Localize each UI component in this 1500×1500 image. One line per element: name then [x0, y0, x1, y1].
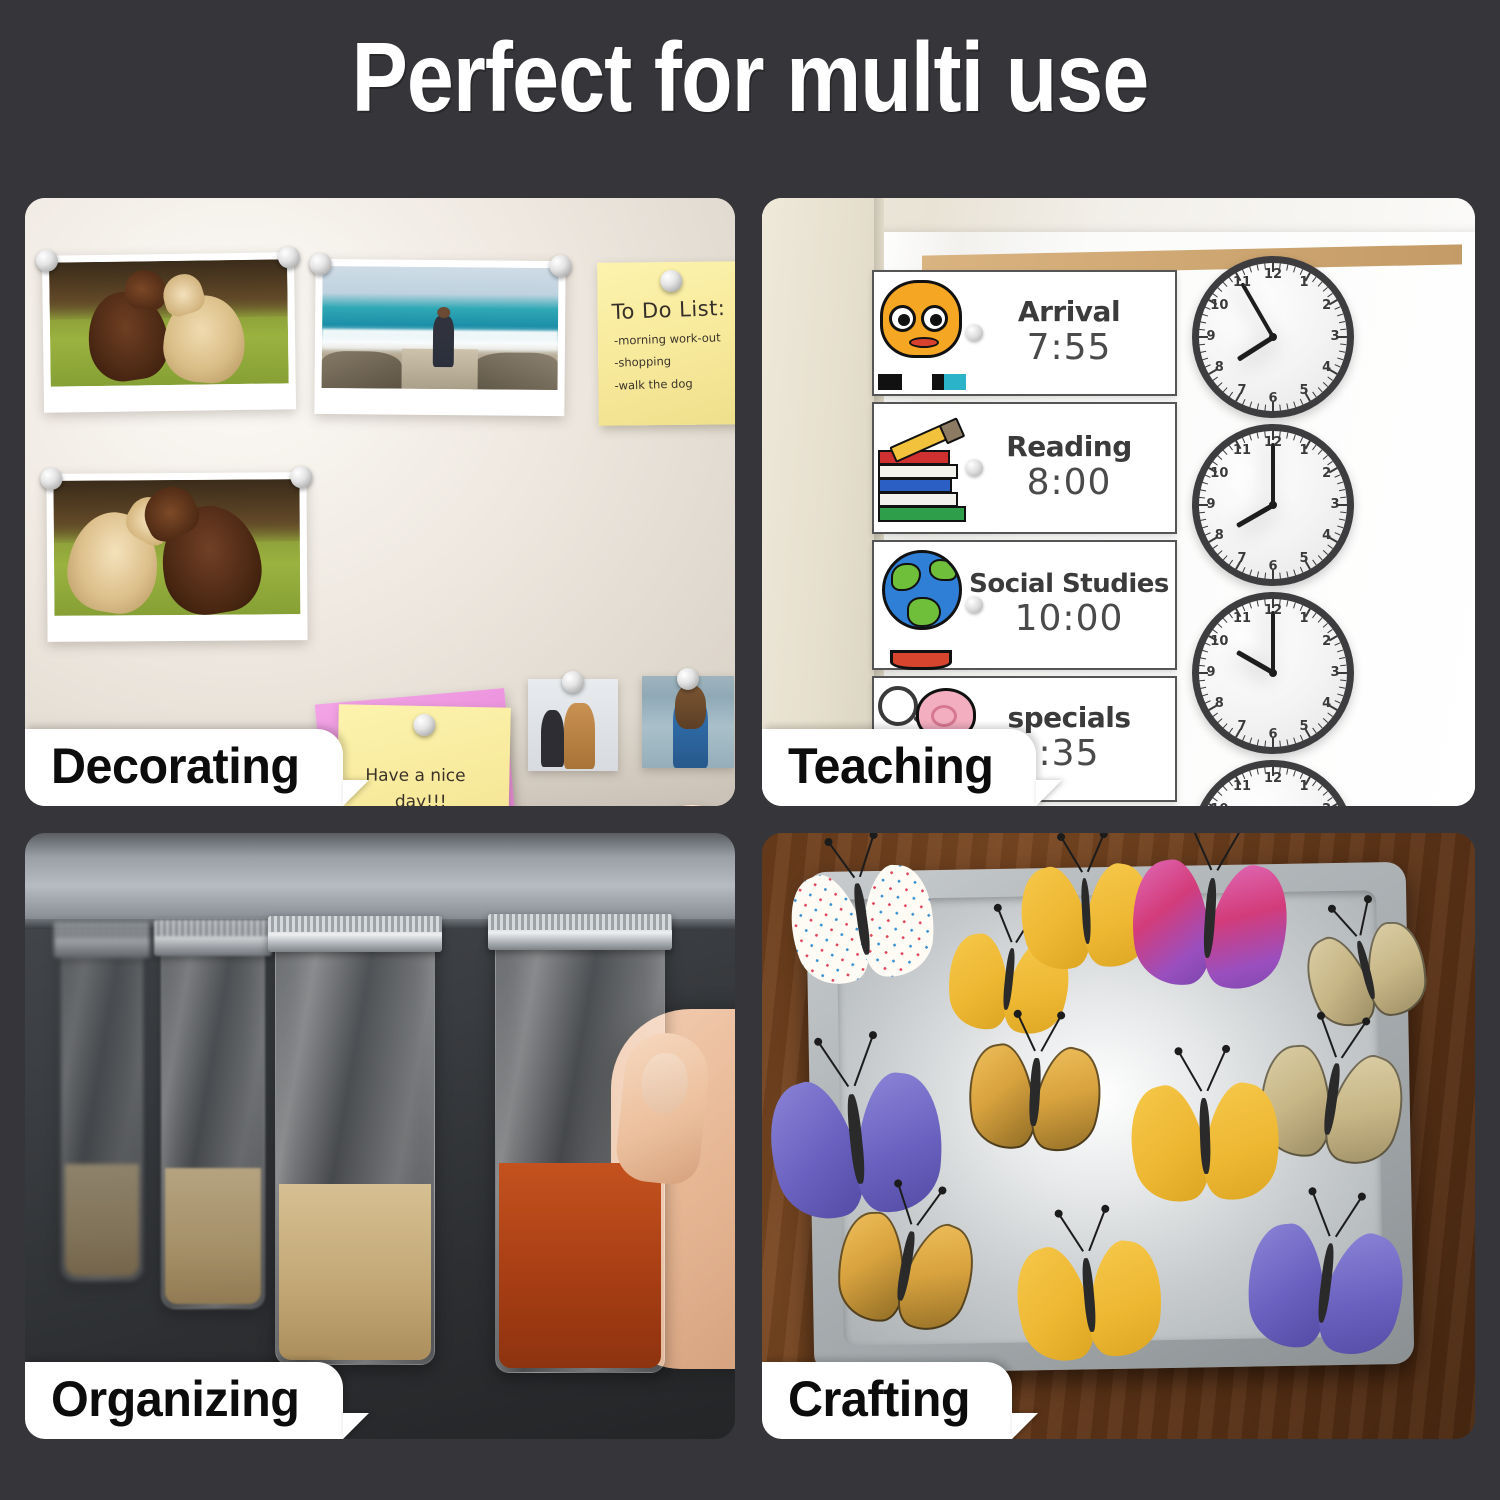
beach-photo: [314, 259, 565, 416]
clock-tick: [1223, 450, 1228, 455]
clock-tick: [1323, 718, 1328, 723]
snow-couple-photo: [528, 679, 618, 771]
clock-number: 1: [1295, 275, 1313, 290]
label-chip-organizing: Organizing: [25, 1362, 343, 1439]
clock-tick: [1339, 657, 1345, 659]
panel-label: Organizing: [51, 1371, 299, 1427]
globe-shape: [882, 550, 962, 630]
clock-tick: [1300, 437, 1304, 443]
clock-tick: [1340, 680, 1346, 682]
clock-tick: [1327, 797, 1333, 801]
schedule-card-text: Arrival 7:55: [969, 294, 1175, 372]
round-magnet-icon[interactable]: [550, 255, 572, 277]
book-stack: [878, 436, 966, 522]
schedule-card-text: Social Studies 10:00: [969, 567, 1175, 643]
clock-tick: [1327, 544, 1333, 548]
clock-tick: [1293, 770, 1296, 776]
clock-tick: [1337, 314, 1343, 317]
clock-tick: [1327, 629, 1333, 633]
minute-hand: [1271, 443, 1275, 505]
panel-label: Teaching: [788, 738, 993, 794]
clock-tick: [1217, 382, 1222, 387]
round-magnet-icon[interactable]: [660, 270, 682, 292]
clock-tick: [1199, 336, 1208, 338]
globe-base: [890, 650, 952, 670]
clock-tick: [1199, 672, 1208, 674]
clock-tick: [1200, 321, 1206, 323]
wing-left: [1242, 1221, 1329, 1351]
label-chip-teaching: Teaching: [762, 729, 1036, 806]
spice-jar-breadcrumbs: [275, 945, 435, 1365]
magnetic-lid: [154, 920, 272, 956]
panel-organizing[interactable]: Organizing: [25, 833, 735, 1439]
stacked-books-icon: [874, 404, 969, 532]
clock-number: 7: [1233, 719, 1251, 734]
todo-item: -walk the dog: [614, 371, 721, 397]
clock-tick: [1318, 387, 1323, 392]
wing-right: [860, 863, 938, 980]
two-dogs-playing-photo: [46, 472, 307, 642]
clock-tick: [1272, 263, 1274, 272]
clock-tick: [1202, 525, 1208, 528]
clock-tick: [1264, 767, 1266, 773]
clock-tick: [1264, 741, 1266, 747]
round-magnet-icon[interactable]: [966, 597, 983, 614]
clock-tick: [1318, 450, 1323, 455]
clock-tick: [1337, 525, 1343, 528]
clock-tick: [1242, 567, 1246, 573]
wing-left: [1123, 856, 1216, 991]
minute-hand: [1240, 282, 1274, 337]
nice-day-line2: day!!!: [395, 792, 447, 806]
person-figure: [433, 316, 455, 367]
clock-tick: [1242, 735, 1246, 741]
clock-number: 1: [1295, 611, 1313, 626]
minute-hand: [1271, 611, 1275, 673]
rock-left: [322, 351, 403, 388]
nice-day-line1: Have a nice: [365, 766, 465, 786]
clock-tick: [1339, 519, 1345, 521]
clock-tick: [1212, 544, 1218, 548]
wall-clock-arrival: 121234567891011: [1192, 256, 1354, 418]
clock-tick: [1318, 282, 1323, 287]
clock-tick: [1286, 600, 1288, 606]
todo-heading: To Do List:: [611, 296, 726, 324]
round-magnet-icon[interactable]: [290, 466, 312, 488]
butterfly-blue-left[interactable]: [765, 1061, 947, 1218]
clock-tick: [1223, 387, 1228, 392]
clock-tick: [1202, 650, 1208, 653]
clock-tick: [1300, 735, 1304, 741]
clock-tick: [1272, 570, 1274, 579]
clock-tick: [1340, 512, 1346, 514]
clock-tick: [1199, 512, 1205, 514]
clock-tick: [1257, 264, 1259, 270]
clock-tick: [1257, 768, 1259, 774]
hour-hand: [1236, 335, 1274, 362]
clock-tick: [1337, 357, 1343, 360]
clock-tick: [1318, 723, 1323, 728]
subject-name: Arrival: [969, 298, 1169, 326]
todo-sticky-note: To Do List: -morning work-out -shopping …: [597, 261, 735, 426]
subject-time: 10:00: [969, 601, 1169, 637]
eye-left: [889, 305, 916, 332]
wall-clock-social-studies: 121234567891011: [1192, 592, 1354, 754]
clock-tick: [1339, 687, 1345, 689]
subject-name: specials: [969, 704, 1169, 732]
door-frame: [762, 198, 884, 806]
clock-tick: [1223, 555, 1228, 560]
clock-tick: [1200, 657, 1206, 659]
clock-tick: [1200, 489, 1206, 491]
clock-tick: [1264, 405, 1266, 411]
clock-tick: [1293, 569, 1296, 575]
schedule-card-arrival[interactable]: Arrival 7:55: [872, 270, 1177, 396]
label-chip-crafting: Crafting: [762, 1362, 1012, 1439]
clock-tick: [1242, 773, 1246, 779]
clock-tick: [1249, 737, 1252, 743]
clock-tick: [1223, 786, 1228, 791]
wing-right: [1084, 1237, 1169, 1361]
clock-tick: [1318, 786, 1323, 791]
clock-tick: [1212, 293, 1218, 297]
jar-contents: [499, 1163, 661, 1368]
clock-tick: [1223, 618, 1228, 623]
clock-tick: [1338, 504, 1347, 506]
clock-tick: [1323, 791, 1328, 796]
clock-tick: [1286, 403, 1288, 409]
clock-tick: [1338, 672, 1347, 674]
clock-tick: [1217, 623, 1222, 628]
clock-tick: [1199, 680, 1205, 682]
subject-time: 8:00: [969, 465, 1169, 501]
clock-tick: [1249, 266, 1252, 272]
butterfly-blue-bottom-right[interactable]: [1243, 1212, 1409, 1354]
clock-tick: [1217, 455, 1222, 460]
clock-tick: [1212, 797, 1218, 801]
jar-contents: [279, 1184, 431, 1360]
schedule-card-reading[interactable]: Reading 8:00: [872, 402, 1177, 534]
clock-tick: [1199, 344, 1205, 346]
mouth: [909, 337, 939, 348]
photo-image: [322, 266, 559, 390]
clock-tick: [1249, 434, 1252, 440]
infographic-root: Perfect for multi use: [0, 0, 1500, 1500]
hour-hand: [1235, 650, 1274, 675]
butterfly-yellow-center[interactable]: [1130, 1074, 1280, 1197]
clock-tick: [1323, 382, 1328, 387]
dark-dog-shape: [154, 498, 269, 616]
clock-tick: [1318, 555, 1323, 560]
clock-tick: [1300, 269, 1304, 275]
clock-tick: [1300, 399, 1304, 405]
clock-tick: [1338, 336, 1347, 338]
clock-tick: [1257, 571, 1259, 577]
photo-image: [53, 479, 300, 616]
clock-number: 1: [1295, 443, 1313, 458]
round-magnet-icon[interactable]: [413, 714, 435, 736]
clock-tick: [1337, 482, 1343, 485]
clock-tick: [1264, 599, 1266, 605]
clock-tick: [1257, 432, 1259, 438]
clock-tick: [1318, 618, 1323, 623]
clock-tick: [1272, 738, 1274, 747]
person-figure: [541, 710, 564, 767]
clock-tick: [1286, 432, 1288, 438]
two-dogs-field-photo: [42, 252, 296, 413]
clock-tick: [1212, 629, 1218, 633]
panel-label: Decorating: [51, 738, 299, 794]
clock-tick: [1199, 497, 1205, 499]
book: [878, 492, 958, 507]
clock-tick: [1286, 739, 1288, 745]
magnetic-lid: [268, 916, 442, 952]
clock-tick: [1257, 739, 1259, 745]
clock-tick: [1293, 401, 1296, 407]
schedule-card-text: Reading 8:00: [969, 429, 1175, 507]
face-with-glasses-icon: [874, 272, 969, 394]
clock-tick: [1300, 605, 1304, 611]
round-magnet-icon[interactable]: [40, 468, 62, 490]
subject-name: Reading: [969, 433, 1169, 461]
globe-icon: [874, 542, 969, 668]
clock-tick: [1212, 376, 1218, 380]
round-magnet-icon[interactable]: [310, 253, 332, 275]
clock-tick: [1264, 263, 1266, 269]
book: [878, 478, 952, 493]
clock-tick: [1257, 600, 1259, 606]
clock-tick: [1323, 550, 1328, 555]
clock-number: 11: [1233, 779, 1251, 794]
beach-scene: [322, 266, 559, 390]
clock-number: 5: [1295, 719, 1313, 734]
rock-right: [473, 353, 558, 390]
clock-tick: [1272, 767, 1274, 776]
clock-number: 7: [1233, 383, 1251, 398]
eye-right: [921, 305, 948, 332]
clock-tick: [1199, 504, 1208, 506]
clock-tick: [1286, 768, 1288, 774]
clock-tick: [1242, 437, 1246, 443]
magnifier-icon: [878, 686, 918, 726]
clock-tick: [1242, 605, 1246, 611]
clock-tick: [1249, 569, 1252, 575]
clock-tick: [1264, 431, 1266, 437]
clock-number: 11: [1233, 611, 1251, 626]
clock-tick: [1242, 399, 1246, 405]
magnetic-lid: [488, 914, 672, 950]
clock-tick: [1264, 573, 1266, 579]
clock-tick: [1212, 712, 1218, 716]
clock-tick: [1327, 461, 1333, 465]
dogs-field-scene: [49, 259, 289, 386]
clock-tick: [1340, 344, 1346, 346]
book: [878, 464, 958, 479]
butterfly-yellow-bottom[interactable]: [1013, 1231, 1165, 1359]
spice-jar-back-1: [61, 951, 143, 1281]
clock-tick: [1217, 718, 1222, 723]
magnetic-lid: [54, 922, 150, 958]
clock-tick: [1272, 599, 1274, 608]
butterfly-polka-dot[interactable]: [785, 854, 939, 984]
wing-left: [836, 1211, 906, 1323]
jar-contents: [65, 1164, 139, 1276]
clock-tick: [1300, 567, 1304, 573]
schedule-card-social-studies[interactable]: Social Studies 10:00: [872, 540, 1177, 670]
clock-tick: [1223, 282, 1228, 287]
clock-tick: [1327, 293, 1333, 297]
clock-tick: [1293, 737, 1296, 743]
round-magnet-icon[interactable]: [966, 325, 983, 342]
butterfly-tiger-center[interactable]: [967, 1036, 1102, 1149]
clock-tick: [1286, 264, 1288, 270]
clock-tick: [1337, 650, 1343, 653]
hair-shape: [675, 685, 706, 729]
jar-contents: [165, 1168, 261, 1304]
clock-tick: [1249, 770, 1252, 776]
round-magnet-icon[interactable]: [677, 668, 699, 690]
panel-label: Crafting: [788, 1371, 970, 1427]
wall-clock-reading: 121234567891011: [1192, 424, 1354, 586]
book: [878, 506, 966, 522]
clock-tick: [1293, 434, 1296, 440]
dogs-play-scene: [53, 479, 300, 616]
clock-column: 121234567891011 121234567891011 12123456…: [1192, 256, 1377, 806]
person-figure: [564, 703, 595, 769]
light-dog-shape: [161, 292, 249, 386]
butterfly-tiger-bottom-left[interactable]: [831, 1200, 980, 1331]
clock-tick: [1339, 321, 1345, 323]
daily-schedule: Arrival 7:55: [872, 270, 1177, 806]
clock-tick: [1293, 602, 1296, 608]
landmass: [891, 563, 921, 591]
clock-tick: [1200, 687, 1206, 689]
wall-clock-specials: 121234567891011: [1192, 760, 1354, 806]
landmass: [907, 597, 941, 627]
clock-tick: [1249, 401, 1252, 407]
clock-number: 11: [1233, 275, 1251, 290]
clock-tick: [1217, 791, 1222, 796]
clock-tick: [1323, 287, 1328, 292]
clock-tick: [1323, 623, 1328, 628]
clock-tick: [1327, 712, 1333, 716]
clock-tick: [1212, 461, 1218, 465]
clock-tick: [1249, 602, 1252, 608]
girl-water-photo: [642, 676, 734, 768]
butterfly-pink-purple[interactable]: [1130, 850, 1290, 986]
clock-number: 5: [1295, 383, 1313, 398]
clock-tick: [1337, 693, 1343, 696]
clock-tick: [1323, 455, 1328, 460]
label-chip-decorating: Decorating: [25, 729, 343, 806]
clock-tick: [1200, 519, 1206, 521]
page-title: Perfect for multi use: [105, 26, 1395, 129]
clock-tick: [1293, 266, 1296, 272]
wing-right: [1197, 1078, 1289, 1207]
todo-item: -shopping: [614, 349, 721, 375]
clock-tick: [1242, 269, 1246, 275]
clock-tick: [1217, 287, 1222, 292]
subject-time: 7:55: [969, 330, 1169, 366]
panel-grid: To Do List: -morning work-out -shopping …: [25, 198, 1475, 1450]
hour-hand: [1235, 503, 1274, 528]
clock-number: 1: [1295, 779, 1313, 794]
panel-decorating[interactable]: To Do List: -morning work-out -shopping …: [25, 198, 735, 806]
dark-dog-shape: [82, 286, 173, 386]
clock-tick: [1199, 329, 1205, 331]
clock-tick: [1217, 550, 1222, 555]
clock-number: 7: [1233, 551, 1251, 566]
subject-name: Social Studies: [969, 571, 1169, 597]
clock-number: 5: [1295, 551, 1313, 566]
clock-tick: [1223, 723, 1228, 728]
clock-tick: [1286, 571, 1288, 577]
clock-tick: [1339, 489, 1345, 491]
clock-tick: [1202, 482, 1208, 485]
clock-tick: [1257, 403, 1259, 409]
clock-tick: [1200, 351, 1206, 353]
clock-tick: [1202, 693, 1208, 696]
wing-left: [960, 1040, 1041, 1155]
shirt: [878, 374, 966, 390]
photo-image: [49, 259, 289, 386]
spice-jar-back-2: [161, 949, 265, 1309]
cartoon-face: [880, 280, 962, 358]
clock-number: 11: [1233, 443, 1251, 458]
clock-tick: [1272, 402, 1274, 411]
landmass: [929, 559, 957, 581]
clock-tick: [1339, 351, 1345, 353]
wing-left: [943, 931, 1012, 1033]
clock-tick: [1327, 376, 1333, 380]
todo-list: -morning work-out -shopping -walk the do…: [614, 327, 721, 395]
clock-tick: [1272, 431, 1274, 440]
clock-tick: [1202, 314, 1208, 317]
round-magnet-icon[interactable]: [966, 460, 983, 477]
clock-tick: [1300, 773, 1304, 779]
round-magnet-icon[interactable]: [562, 671, 584, 693]
panel-teaching[interactable]: Arrival 7:55: [762, 198, 1475, 806]
clock-tick: [1199, 665, 1205, 667]
panel-crafting[interactable]: Crafting: [762, 833, 1475, 1439]
clock-tick: [1202, 357, 1208, 360]
